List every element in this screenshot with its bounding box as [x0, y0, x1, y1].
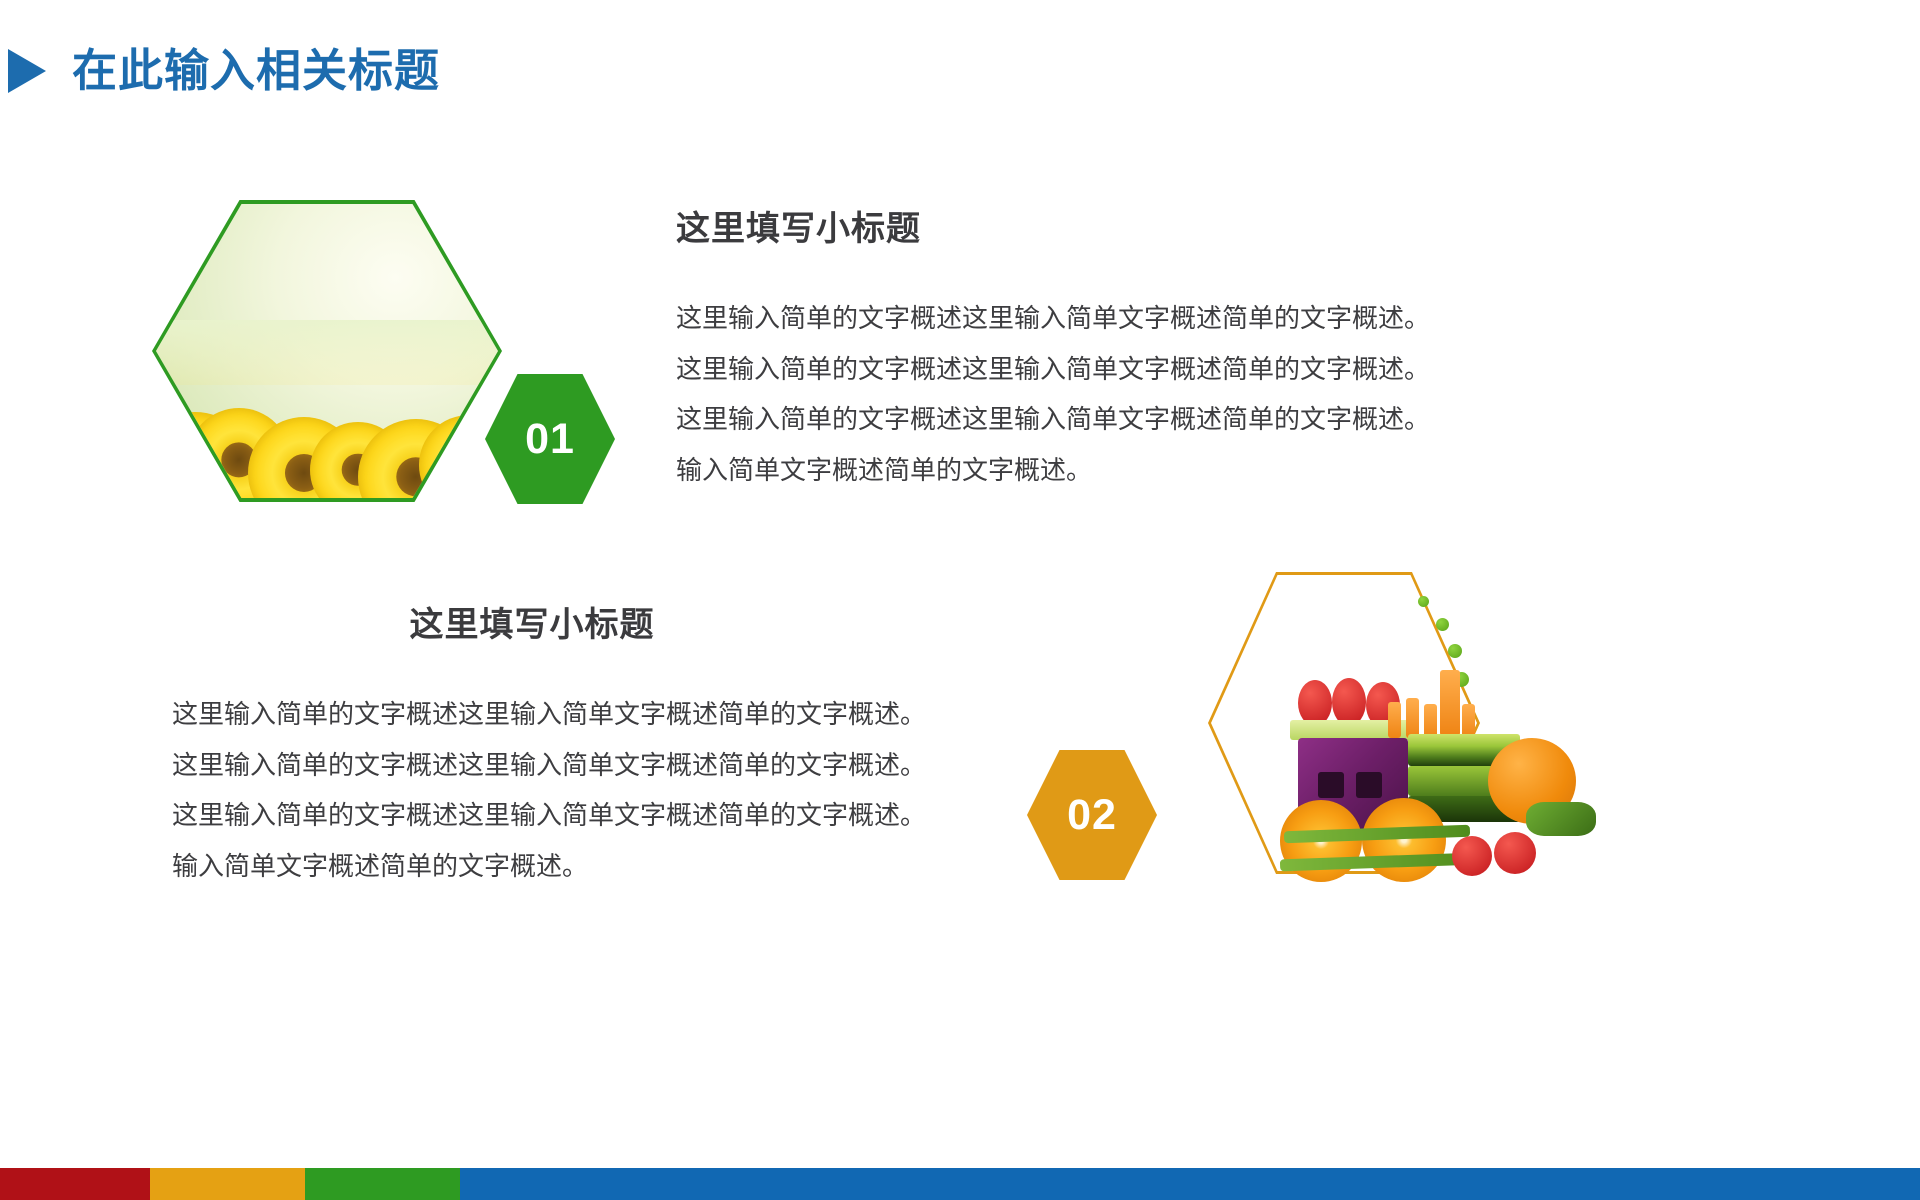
sunflower-cluster — [156, 357, 498, 498]
vegetable-train-photo — [1240, 592, 1540, 852]
body-line: 这里输入简单的文字概述这里输入简单文字概述简单的文字概述。 — [676, 395, 1446, 446]
bar-segment-orange — [150, 1168, 305, 1200]
bar-segment-blue — [460, 1168, 1920, 1200]
section-02-number-badge: 02 — [1027, 750, 1157, 880]
pepper-fender — [1526, 802, 1596, 836]
bottom-color-bar — [0, 1168, 1920, 1200]
carrot-chimney — [1440, 670, 1460, 736]
cabin-window — [1356, 772, 1382, 798]
section-02-body: 这里输入简单的文字概述这里输入简单文字概述简单的文字概述。 这里输入简单的文字概… — [172, 690, 942, 893]
tomato-wheel — [1494, 832, 1536, 874]
sunflower-photo — [156, 204, 498, 498]
pea-steam — [1418, 596, 1429, 607]
body-line: 这里输入简单的文字概述这里输入简单文字概述简单的文字概述。 — [172, 741, 942, 792]
body-line: 输入简单文字概述简单的文字概述。 — [172, 842, 942, 893]
section-01-body: 这里输入简单的文字概述这里输入简单文字概述简单的文字概述。 这里输入简单的文字概… — [676, 294, 1446, 497]
page-title: 在此输入相关标题 — [72, 48, 440, 93]
carrot-pipe — [1406, 698, 1419, 738]
badge-number: 01 — [525, 415, 575, 464]
section-02-text: 这里填写小标题 这里输入简单的文字概述这里输入简单文字概述简单的文字概述。 这里… — [172, 608, 942, 893]
cabin-window — [1318, 772, 1344, 798]
section-01-number-badge: 01 — [485, 374, 615, 504]
photo-haze — [156, 320, 498, 385]
section-01-image-hexagon — [152, 200, 502, 502]
tomato-wheel — [1452, 836, 1492, 876]
body-line: 这里输入简单的文字概述这里输入简单文字概述简单的文字概述。 — [172, 690, 942, 741]
badge-number: 02 — [1067, 791, 1117, 840]
carrot-pipe — [1462, 704, 1475, 738]
bar-segment-green — [305, 1168, 460, 1200]
bar-segment-red — [0, 1168, 150, 1200]
section-01-subtitle: 这里填写小标题 — [676, 212, 1446, 246]
tomato — [1332, 678, 1366, 726]
body-line: 这里输入简单的文字概述这里输入简单文字概述简单的文字概述。 — [676, 294, 1446, 345]
carrot-pipe — [1424, 704, 1437, 738]
triangle-bullet-icon — [8, 49, 46, 93]
section-01-text: 这里填写小标题 这里输入简单的文字概述这里输入简单文字概述简单的文字概述。 这里… — [676, 212, 1446, 497]
carrot-pipe — [1388, 702, 1401, 738]
section-02-subtitle: 这里填写小标题 — [172, 608, 892, 642]
body-line: 这里输入简单的文字概述这里输入简单文字概述简单的文字概述。 — [172, 791, 942, 842]
body-line: 输入简单文字概述简单的文字概述。 — [676, 446, 1446, 497]
pea-steam — [1436, 618, 1449, 631]
slide-header: 在此输入相关标题 — [0, 48, 440, 93]
pea-steam — [1448, 644, 1462, 658]
body-line: 这里输入简单的文字概述这里输入简单文字概述简单的文字概述。 — [676, 345, 1446, 396]
